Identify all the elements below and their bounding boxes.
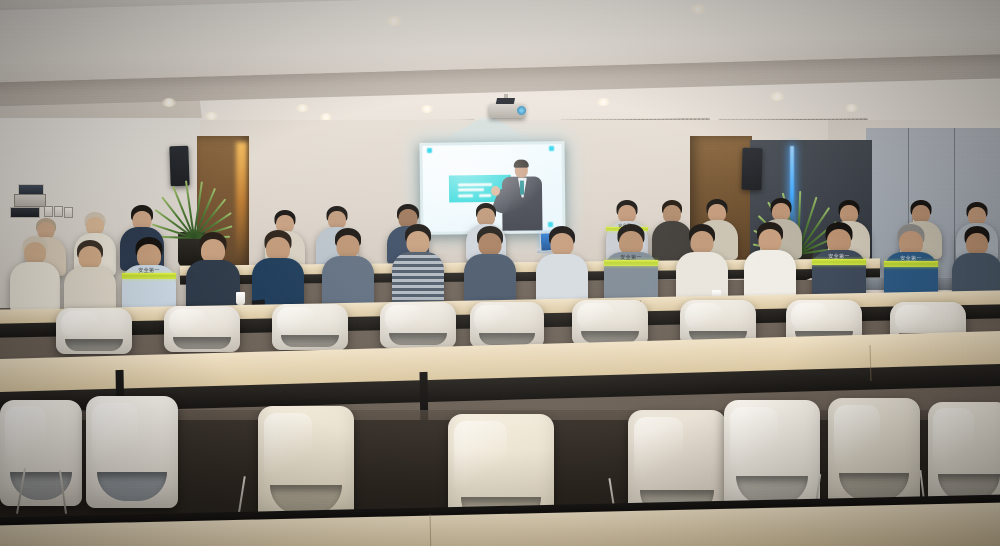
downlight <box>205 112 218 120</box>
light-switch[interactable] <box>44 206 53 217</box>
chair[interactable] <box>0 400 82 506</box>
downlight <box>386 16 402 26</box>
downlight <box>770 92 784 101</box>
projector-lens-icon <box>517 106 526 115</box>
uniform-text: 安全第一 <box>620 254 642 261</box>
attendee <box>464 226 516 310</box>
downlight <box>597 98 610 106</box>
attendee <box>10 236 60 312</box>
light-switch[interactable] <box>54 206 63 217</box>
uniform-text: 安全第一 <box>138 267 160 274</box>
downlight <box>421 105 433 113</box>
chair[interactable] <box>86 396 178 508</box>
uniform-text: 安全第一 <box>900 255 922 262</box>
downlight <box>690 4 706 14</box>
downlight <box>845 104 858 112</box>
chair[interactable] <box>56 308 132 354</box>
chair[interactable] <box>828 398 920 508</box>
attendee <box>392 224 444 308</box>
attendee <box>186 232 240 316</box>
chair[interactable] <box>572 300 648 346</box>
chair[interactable] <box>928 402 1000 508</box>
uniform-text: 安全第一 <box>828 253 850 260</box>
downlight <box>162 98 176 107</box>
chair[interactable] <box>258 406 354 522</box>
chair[interactable] <box>470 302 544 348</box>
downlight <box>296 104 309 112</box>
attendee <box>536 226 588 310</box>
training-room-photo: 安全第一 <box>0 0 1000 546</box>
paper-cup <box>236 292 245 305</box>
light-switch[interactable] <box>64 207 73 218</box>
chair[interactable] <box>380 302 456 348</box>
screen-corner-marker <box>549 146 554 151</box>
chair[interactable] <box>724 400 820 512</box>
thermostat-panel[interactable] <box>14 194 46 207</box>
chair[interactable] <box>272 304 348 350</box>
screen-corner-marker <box>427 148 432 153</box>
attendee <box>322 228 374 312</box>
chair[interactable] <box>164 306 240 352</box>
intercom-panel[interactable] <box>10 207 40 218</box>
plant-foliage <box>158 158 228 238</box>
